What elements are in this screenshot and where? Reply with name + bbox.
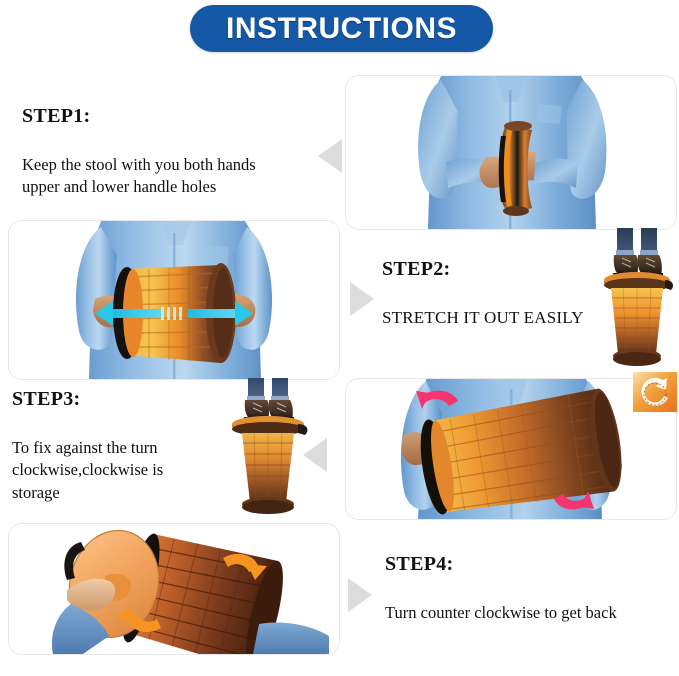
step1-body-line-1: Keep the stool with you both hands [22, 154, 256, 176]
step1-body-line-2: upper and lower handle holes [22, 176, 256, 198]
step3-text-block: STEP3: To fix against the turn clockwise… [12, 388, 163, 504]
boots-stool-art [595, 228, 679, 373]
page-title: INSTRUCTIONS [226, 12, 457, 46]
step1-body: Keep the stool with you both hands upper… [22, 154, 256, 199]
step3-body-line-1: To fix against the turn [12, 437, 163, 459]
page-title-banner: INSTRUCTIONS [190, 5, 493, 52]
step1-heading: STEP1: [22, 105, 256, 128]
step4-photo-art [9, 524, 339, 654]
step2-text-block: STEP2: STRETCH IT OUT EASILY [382, 258, 584, 330]
step2-body-line-1: STRETCH IT OUT EASILY [382, 307, 584, 330]
step2-body: STRETCH IT OUT EASILY [382, 307, 584, 330]
step3-heading: STEP3: [12, 388, 163, 411]
step4-body: Turn counter clockwise to get back [385, 602, 617, 624]
boots-on-stool-photo [222, 378, 312, 518]
boots-on-extended-stool-photo [595, 228, 679, 373]
step4-heading: STEP4: [385, 553, 617, 576]
step3-boots-art [222, 378, 312, 518]
triangle-right-icon [348, 578, 372, 612]
rotation-badge-icon [633, 372, 677, 412]
step2-photo-art [9, 221, 339, 379]
rotate-to-lock-photo [345, 378, 677, 520]
step3-photo-art [346, 379, 676, 519]
triangle-left-icon [318, 139, 342, 173]
step3-body: To fix against the turn clockwise,clockw… [12, 437, 163, 504]
step3-body-line-3: storage [12, 482, 163, 504]
step1-photo-art [346, 76, 676, 229]
man-holding-collapsed-stool-photo [345, 75, 677, 230]
step3-body-line-2: clockwise,clockwise is [12, 459, 163, 481]
step1-text-block: STEP1: Keep the stool with you both hand… [22, 105, 256, 199]
step2-heading: STEP2: [382, 258, 584, 281]
triangle-right-icon [350, 282, 374, 316]
stretching-stool-photo [8, 220, 340, 380]
step4-body-line-1: Turn counter clockwise to get back [385, 602, 617, 624]
turn-counter-clockwise-photo [8, 523, 340, 655]
rotation-badge-art [633, 372, 677, 412]
step4-text-block: STEP4: Turn counter clockwise to get bac… [385, 553, 617, 624]
instructions-page: INSTRUCTIONS STEP1: Keep the stool with … [0, 0, 679, 676]
